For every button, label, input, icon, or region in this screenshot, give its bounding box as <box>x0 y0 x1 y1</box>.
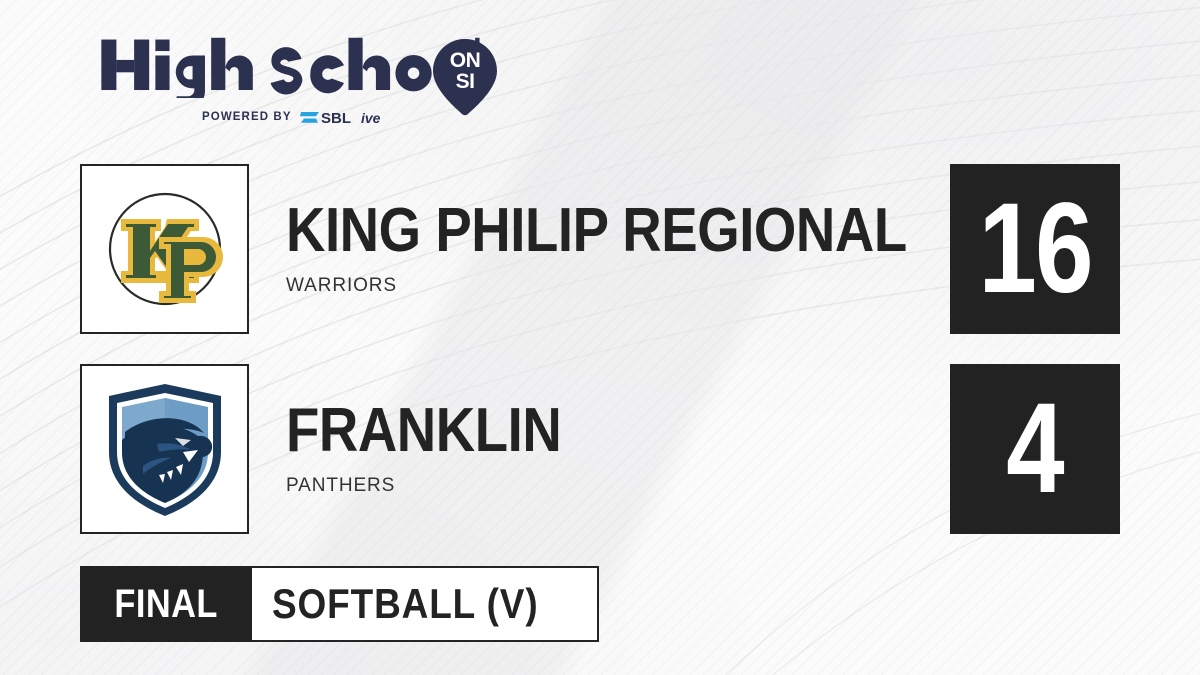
king-philip-kp-monogram-logo-icon <box>95 179 235 319</box>
team-logo-card-home <box>80 164 249 334</box>
powered-by-label: POWERED BY <box>202 112 292 124</box>
sblive-ive-text: ive <box>361 110 381 126</box>
scoreboard-graphic: ON SI POWERED BY SBL ive <box>0 0 1200 675</box>
status-label: FINAL <box>114 582 217 627</box>
team-logo-card-away <box>80 364 249 534</box>
powered-by-row: POWERED BY SBL ive <box>202 108 411 127</box>
on-si-pin-badge-icon: ON SI <box>431 38 499 116</box>
team-mascot-away: PANTHERS <box>286 475 599 497</box>
team-mascot-home: WARRIORS <box>286 275 991 297</box>
team-score-home: 16 <box>978 185 1091 313</box>
team-info-away: FRANKLIN PANTHERS <box>286 364 599 534</box>
team-score-away: 4 <box>1007 385 1064 513</box>
sport-label-box: SOFTBALL (V) <box>252 566 599 642</box>
sblive-logo-icon: SBL ive <box>299 108 411 127</box>
team-row-home: KING PHILIP REGIONAL WARRIORS 16 <box>80 164 1120 334</box>
game-status-bar: FINAL SOFTBALL (V) <box>80 566 599 642</box>
badge-si-text: SI <box>456 70 475 93</box>
brand-header: ON SI POWERED BY SBL ive <box>80 36 510 136</box>
team-score-box-home: 16 <box>950 164 1120 334</box>
sblive-wordmark-text: SBL <box>321 110 351 127</box>
sport-label: SOFTBALL (V) <box>272 580 539 628</box>
team-info-home: KING PHILIP REGIONAL WARRIORS <box>286 164 991 334</box>
team-name-away: FRANKLIN <box>286 401 561 461</box>
status-badge: FINAL <box>80 566 252 642</box>
team-row-away: FRANKLIN PANTHERS 4 <box>80 364 1120 534</box>
badge-on-text: ON <box>450 49 481 72</box>
franklin-panther-shield-logo-icon <box>99 380 231 518</box>
team-name-home: KING PHILIP REGIONAL <box>286 201 907 261</box>
team-score-box-away: 4 <box>950 364 1120 534</box>
